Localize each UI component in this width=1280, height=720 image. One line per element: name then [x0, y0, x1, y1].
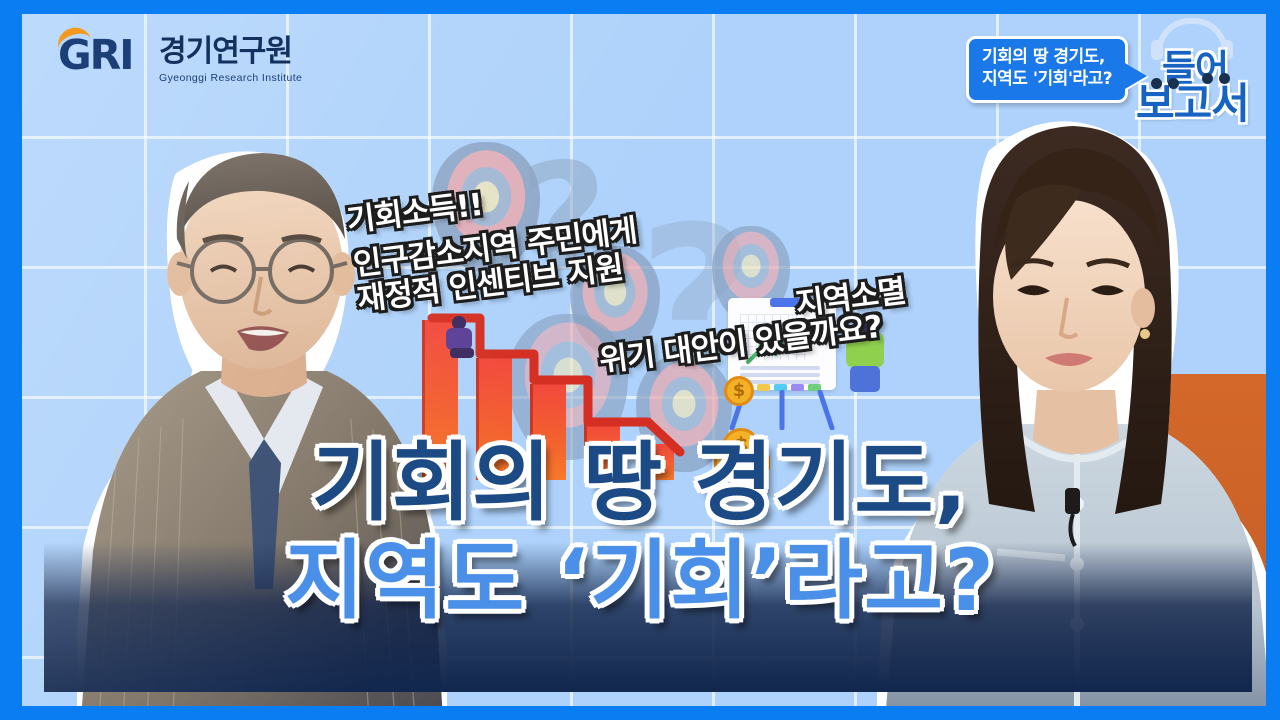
gri-logo-text: 경기연구원 Gyeonggi Research Institute [159, 26, 302, 84]
main-title-line-1: 기회의 땅 경기도, [0, 440, 1280, 528]
topic-speech-bubble: 기회의 땅 경기도, 지역도 '기회'라고? [966, 36, 1128, 103]
gri-logo[interactable]: GRI 경기연구원 Gyeonggi Research Institute [58, 26, 302, 84]
thumbnail-canvas: ? ? [0, 0, 1280, 720]
logo-eye-icon [1168, 78, 1179, 89]
main-title: 기회의 땅 경기도, 지역도 ‘기회’라고? [0, 440, 1280, 625]
gri-name-english: Gyeonggi Research Institute [159, 72, 302, 84]
show-logo: 들어 보고서 [1130, 18, 1260, 118]
logo-eye-icon [1219, 73, 1230, 84]
bubble-line-1: 기회의 땅 경기도, [982, 47, 1112, 69]
gri-logo-mark: GRI [58, 32, 150, 78]
bubble-line-2: 지역도 '기회'라고? [982, 69, 1112, 91]
gri-name-korean: 경기연구원 [159, 26, 302, 70]
logo-eye-icon [1202, 73, 1213, 84]
logo-eye-icon [1151, 78, 1162, 89]
main-title-line-2: 지역도 ‘기회’라고? [0, 538, 1280, 626]
